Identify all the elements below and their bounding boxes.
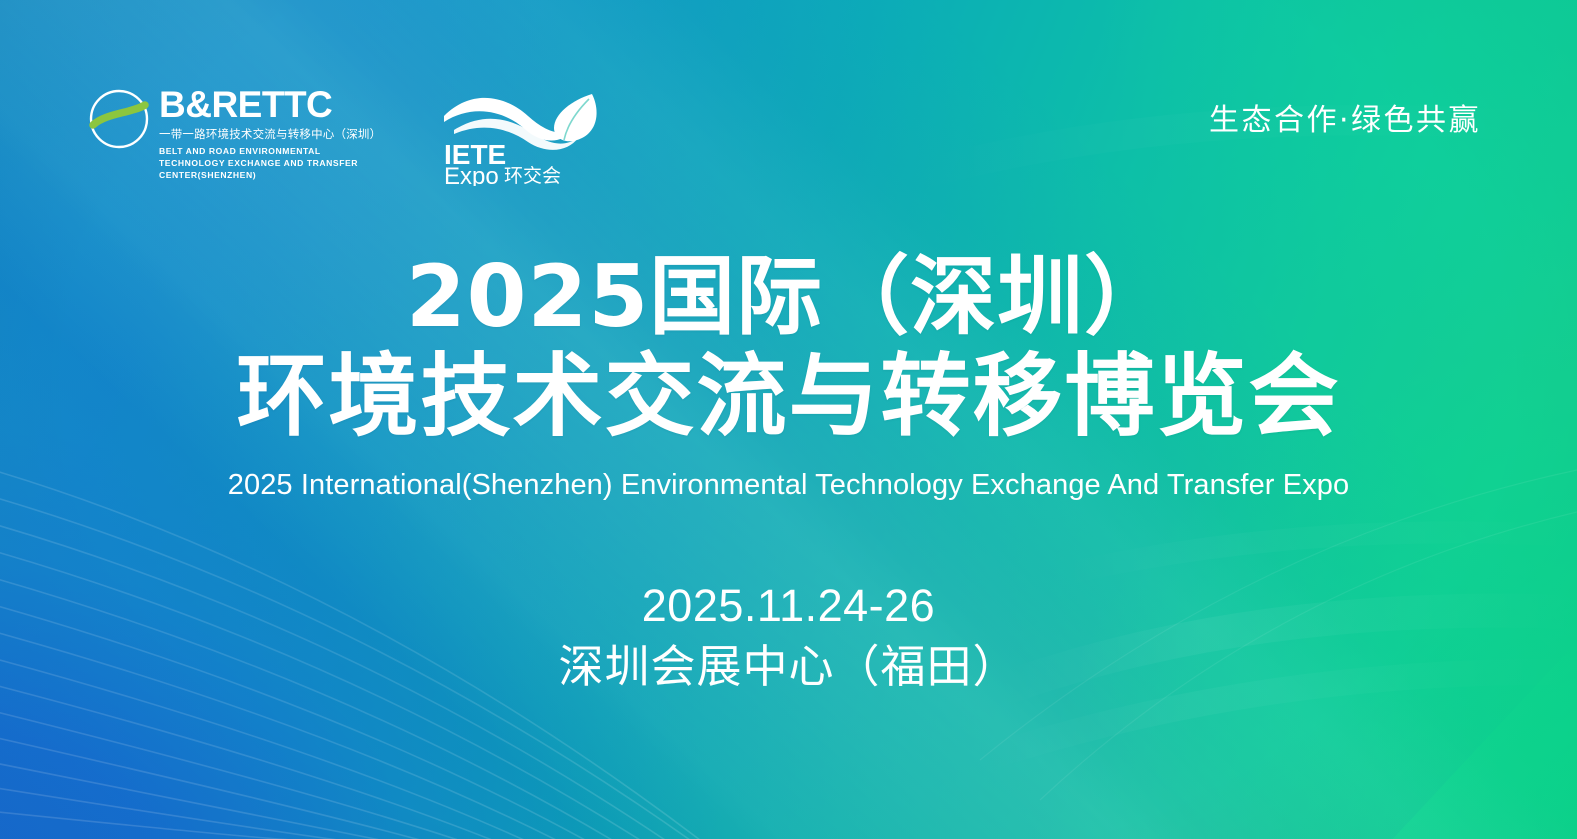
iete-line2-cn: 环交会 <box>504 165 561 186</box>
subtitle-english: 2025 International(Shenzhen) Environment… <box>0 468 1577 503</box>
event-date: 2025.11.24-26 <box>0 579 1577 632</box>
event-banner: B&RETTC 一带一路环境技术交流与转移中心（深圳） BELT AND ROA… <box>0 0 1577 839</box>
title-line-2: 环境技术交流与转移博览会 <box>0 347 1577 446</box>
logo-divider <box>411 86 412 186</box>
event-tagline: 生态合作·绿色共赢 <box>1209 106 1481 136</box>
main-content: 2025国际（深圳） 环境技术交流与转移博览会 2025 Internation… <box>0 252 1577 693</box>
globe-sash-mark-icon <box>88 88 150 150</box>
event-venue: 深圳会展中心（福田） <box>0 640 1577 693</box>
logo-brettc[interactable]: B&RETTC 一带一路环境技术交流与转移中心（深圳） BELT AND ROA… <box>88 86 381 181</box>
title-line-1: 2025国际（深圳） <box>0 252 1577 343</box>
logo-iete[interactable]: IETE Expo 环交会 <box>442 90 604 186</box>
iete-line2: Expo <box>444 163 499 186</box>
logo-row: B&RETTC 一带一路环境技术交流与转移中心（深圳） BELT AND ROA… <box>88 86 604 186</box>
brettc-english-name: BELT AND ROAD ENVIRONMENTAL TECHNOLOGY E… <box>159 145 359 182</box>
brettc-chinese-name: 一带一路环境技术交流与转移中心（深圳） <box>159 127 381 143</box>
leaf-wave-mark-icon: IETE Expo 环交会 <box>442 90 604 186</box>
brettc-wordmark: B&RETTC <box>159 86 381 123</box>
